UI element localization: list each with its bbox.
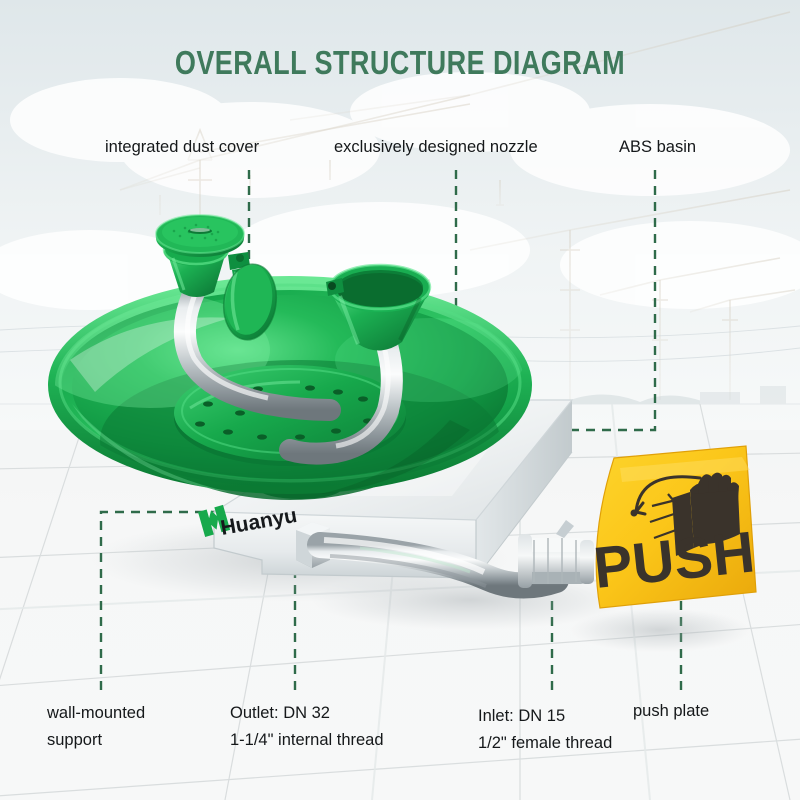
inlet-valve-assembly [518, 520, 594, 588]
label-line-2: 1/2" female thread [478, 730, 612, 757]
push-plate: PUSH [591, 446, 758, 608]
label-integrated-dust-cover: integrated dust cover [105, 134, 259, 160]
label-exclusively-designed-nozzle: exclusively designed nozzle [334, 134, 538, 160]
push-arrow-dot [631, 510, 638, 517]
label-abs-basin: ABS basin [619, 134, 696, 160]
label-line-1: wall-mounted [47, 700, 145, 727]
label-push-plate: push plate [633, 698, 709, 724]
integrated-dust-cover [156, 215, 244, 257]
label-wall-mounted-support: wall-mounted support [47, 700, 145, 754]
label-inlet-dn15: Inlet: DN 15 1/2" female thread [478, 703, 612, 757]
label-line-1: Inlet: DN 15 [478, 703, 612, 730]
label-line-2: 1-1/4" internal thread [230, 727, 384, 754]
eyewash-station-product: Huanyu [0, 0, 800, 800]
label-line-2: support [47, 727, 145, 754]
label-outlet-dn32: Outlet: DN 32 1-1/4" internal thread [230, 700, 384, 754]
diagram-canvas: OVERALL STRUCTURE DIAGRAM [0, 0, 800, 800]
label-line-1: Outlet: DN 32 [230, 700, 384, 727]
